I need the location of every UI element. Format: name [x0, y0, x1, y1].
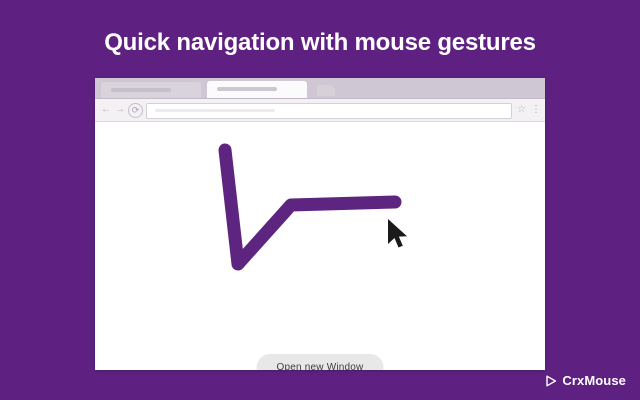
browser-toolbar: ← → ⟳ ☆ ⋮ [95, 99, 545, 122]
menu-icon[interactable]: ⋮ [531, 104, 540, 116]
browser-tab-active[interactable] [207, 81, 307, 98]
promo-tile: Quick navigation with mouse gestures ← →… [0, 0, 640, 400]
browser-window: ← → ⟳ ☆ ⋮ Open new Window [95, 78, 545, 370]
forward-arrow-icon[interactable]: → [114, 104, 126, 116]
brand-logo: CrxMouse [545, 374, 626, 388]
address-bar-text [155, 109, 275, 112]
arrow-pointer-icon [385, 217, 411, 251]
tab-title-placeholder [111, 88, 171, 92]
new-tab-button[interactable] [317, 85, 335, 96]
browser-tab-inactive[interactable] [101, 82, 201, 98]
gesture-path-drawing [95, 122, 545, 370]
open-new-window-button[interactable]: Open new Window [257, 354, 384, 370]
play-triangle-outline-icon [545, 375, 557, 387]
tab-title-placeholder [217, 87, 277, 91]
gesture-stroke [225, 150, 395, 264]
brand-name: CrxMouse [562, 374, 626, 388]
page-title: Quick navigation with mouse gestures [0, 28, 640, 58]
reload-icon[interactable]: ⟳ [128, 103, 143, 118]
page-viewport: Open new Window [95, 122, 545, 370]
bookmark-star-icon[interactable]: ☆ [516, 104, 527, 115]
address-bar[interactable] [146, 103, 512, 119]
back-arrow-icon[interactable]: ← [100, 104, 112, 116]
tab-strip [95, 78, 545, 99]
